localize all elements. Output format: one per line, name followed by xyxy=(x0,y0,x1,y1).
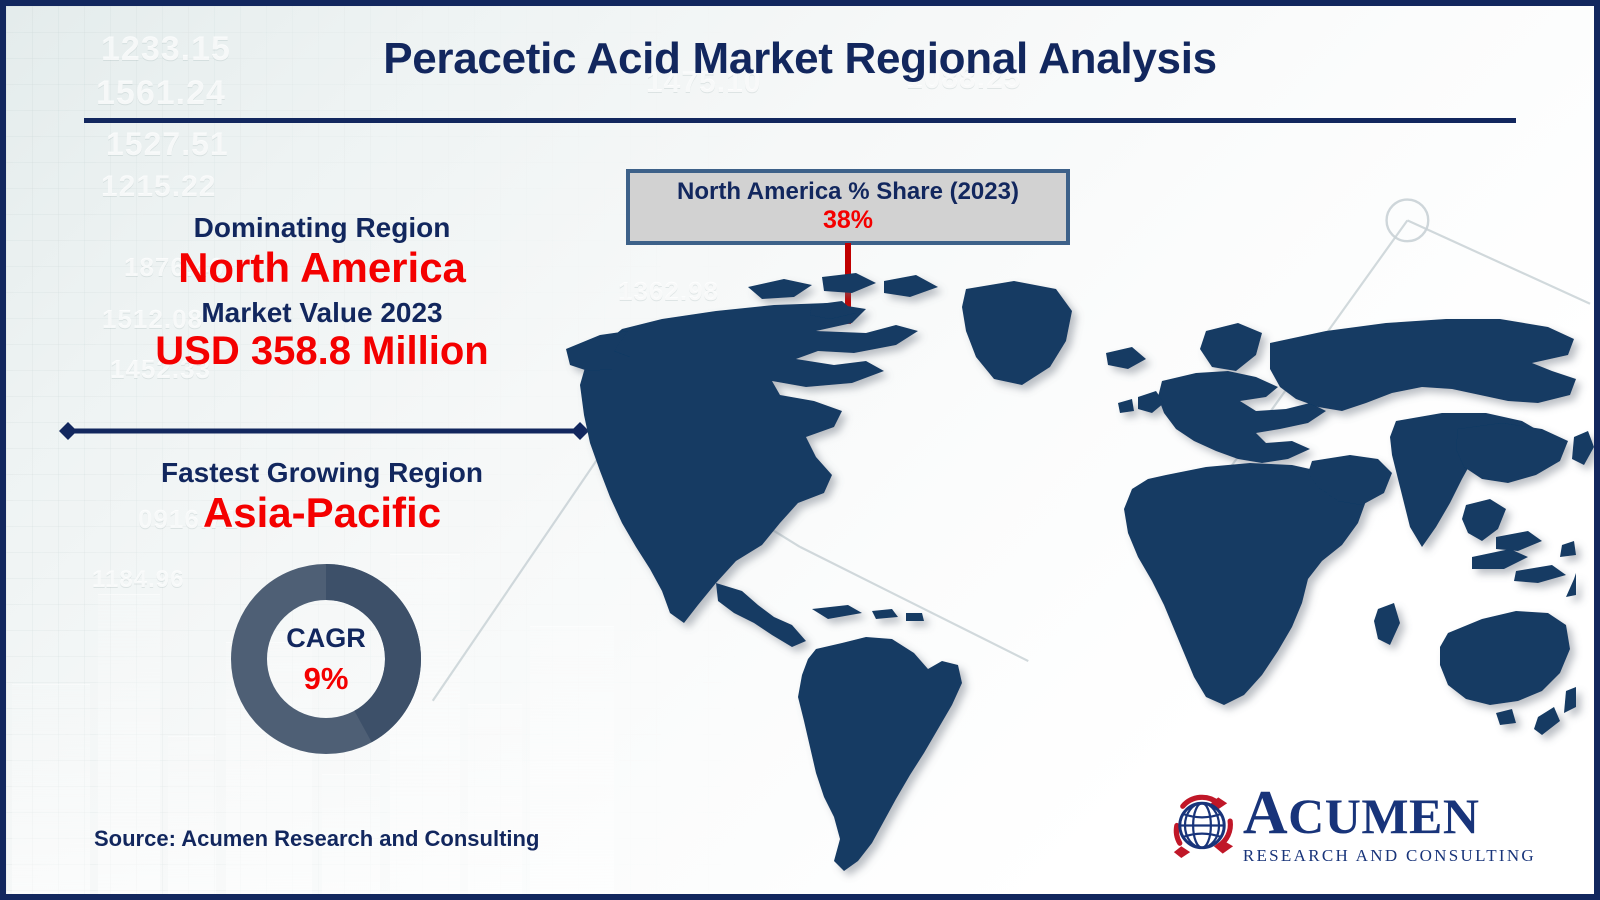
callout-title: North America % Share (2023) xyxy=(677,179,1019,205)
watermark-number: 1184.96 xyxy=(92,566,184,594)
north-america-share-callout: North America % Share (2023) 38% xyxy=(626,169,1070,245)
logo-wordmark: ACUMEN xyxy=(1243,784,1536,844)
logo-tagline: RESEARCH AND CONSULTING xyxy=(1243,847,1536,864)
region-east-asia xyxy=(1456,423,1568,483)
market-value-amount: USD 358.8 Million xyxy=(42,329,602,375)
region-caribbean-2 xyxy=(872,609,898,619)
region-japan xyxy=(1572,431,1594,465)
region-australia xyxy=(1440,611,1570,705)
watermark-number: 1527.51 xyxy=(106,126,229,163)
cagr-label: CAGR xyxy=(286,625,366,652)
region-south-america xyxy=(798,637,962,871)
cagr-donut-chart: CAGR 9% xyxy=(227,560,425,758)
callout-value: 38% xyxy=(823,207,873,235)
donut-center-text: CAGR 9% xyxy=(227,560,425,758)
region-iceland xyxy=(1106,347,1146,369)
region-arctic-island-2 xyxy=(822,273,876,293)
region-island-small-1 xyxy=(1560,541,1576,557)
title-divider-rule xyxy=(84,118,1516,123)
fastest-region-value: Asia-Pacific xyxy=(42,489,602,537)
dominating-region-block: Dominating Region North America Market V… xyxy=(42,211,602,375)
region-southeast-asia xyxy=(1462,499,1506,541)
section-divider xyxy=(54,420,594,442)
region-philippines xyxy=(1496,531,1542,551)
region-arctic-island-1 xyxy=(748,279,812,299)
cagr-value: 9% xyxy=(304,663,349,694)
region-russia xyxy=(1270,319,1576,411)
region-java-borneo xyxy=(1514,565,1566,583)
region-tasmania xyxy=(1496,709,1516,725)
dominating-region-value: North America xyxy=(42,244,602,292)
region-central-america xyxy=(716,583,806,647)
region-caribbean-3 xyxy=(906,613,924,621)
region-new-zealand-north xyxy=(1564,687,1576,713)
fastest-region-label: Fastest Growing Region xyxy=(42,456,602,489)
fastest-growing-region-block: Fastest Growing Region Asia-Pacific xyxy=(42,456,602,537)
watermark-number: 1215.22 xyxy=(101,170,216,204)
acumen-logo: ACUMEN RESEARCH AND CONSULTING xyxy=(1165,784,1536,864)
globe-icon xyxy=(1165,787,1239,861)
region-arctic-island-3 xyxy=(884,275,938,297)
infographic-root: 1233.151561.241527.511215.221876.401512.… xyxy=(0,0,1600,900)
region-greenland xyxy=(962,281,1072,385)
region-caribbean-1 xyxy=(812,605,862,619)
world-map-svg xyxy=(566,261,1576,781)
dominating-region-label: Dominating Region xyxy=(42,211,602,244)
source-attribution: Source: Acumen Research and Consulting xyxy=(94,826,539,852)
region-north-america xyxy=(580,303,918,623)
map-continents xyxy=(566,273,1594,871)
region-papua xyxy=(1566,573,1576,597)
page-title: Peracetic Acid Market Regional Analysis xyxy=(6,34,1594,84)
region-madagascar xyxy=(1374,603,1400,645)
world-map xyxy=(566,261,1576,781)
logo-text-block: ACUMEN RESEARCH AND CONSULTING xyxy=(1243,784,1536,864)
region-new-zealand-south xyxy=(1534,707,1560,735)
region-africa xyxy=(1124,463,1366,705)
region-sumatra xyxy=(1472,549,1528,569)
market-value-label: Market Value 2023 xyxy=(42,296,602,329)
region-ireland xyxy=(1118,399,1134,413)
region-scandinavia xyxy=(1200,323,1262,371)
